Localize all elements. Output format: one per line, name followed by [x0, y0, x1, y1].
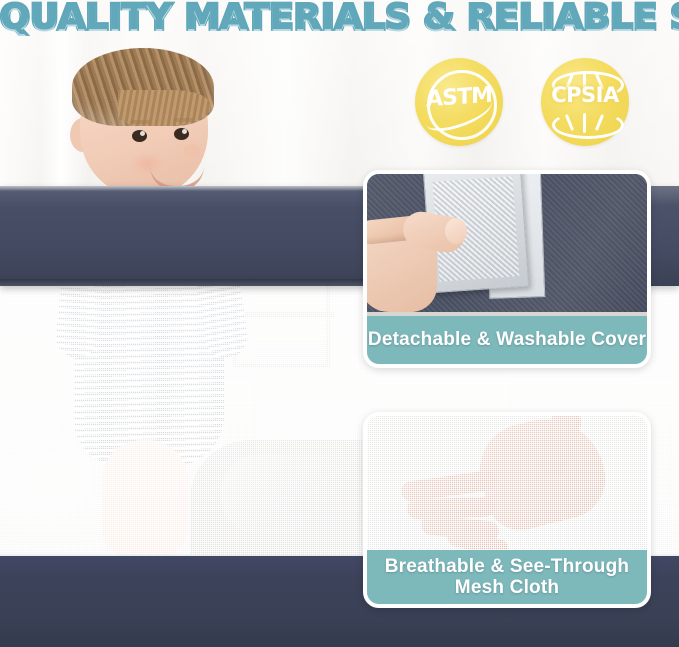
globe-arc-bottom	[552, 111, 624, 139]
cpsia-label: CPSIA	[541, 83, 629, 107]
hand-thumbnail	[445, 218, 467, 244]
mesh-cloth-photo	[367, 416, 647, 550]
mesh-cloth-caption: Breathable & See-Through Mesh Cloth	[367, 550, 647, 604]
baby-eye-left	[132, 130, 147, 142]
feature-card-mesh-cloth: Breathable & See-Through Mesh Cloth	[363, 412, 651, 608]
cpsia-badge: CPSIA	[541, 58, 629, 146]
astm-badge: ASTM	[415, 58, 503, 146]
detachable-cover-photo	[367, 174, 647, 312]
poster-headline: QUALITY MATERIALS & RELIABLE SAFETY	[0, 0, 679, 38]
feature-card-detachable-cover: Detachable & Washable Cover	[363, 170, 651, 368]
certification-badges: ASTM CPSIA	[415, 58, 630, 150]
product-feature-poster: QUALITY MATERIALS & RELIABLE SAFETY ASTM…	[0, 0, 679, 647]
baby-nose	[184, 144, 200, 157]
mesh-cloth-caption-line1: Breathable & See-Through	[385, 556, 629, 577]
detachable-cover-caption: Detachable & Washable Cover	[367, 316, 647, 364]
mesh-overlay-grid	[367, 416, 647, 550]
baby-brow-left	[130, 120, 150, 124]
baby-brow-right	[173, 118, 193, 122]
globe-rib-center-bottom	[583, 113, 586, 133]
playpen-rail-right-segment	[648, 186, 679, 286]
baby-hair	[72, 48, 214, 126]
hand-graphic	[367, 188, 479, 312]
headline-text: QUALITY MATERIALS & RELIABLE SAFETY	[0, 0, 679, 38]
baby-eye-right	[174, 128, 189, 140]
mesh-cloth-caption-line2: Mesh Cloth	[385, 577, 629, 598]
